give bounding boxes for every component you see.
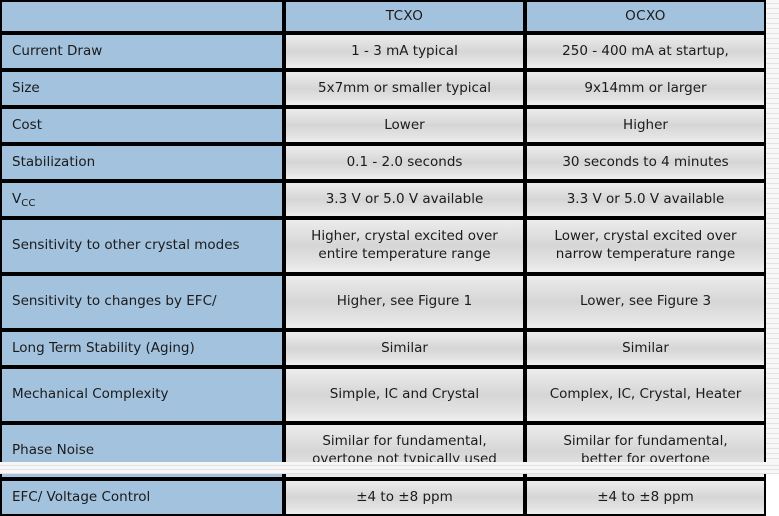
vcc-base: V	[12, 191, 21, 207]
cell-tcxo: Higher, see Figure 1	[284, 274, 525, 330]
cell-tcxo: Higher, crystal excited over entire temp…	[284, 218, 525, 274]
table-row-current-draw: Current Draw 1 - 3 mA typical 250 - 400 …	[0, 33, 766, 70]
header-row: TCXO OCXO	[0, 0, 766, 33]
comparison-table: TCXO OCXO Current Draw 1 - 3 mA typical …	[0, 0, 766, 516]
cell-tcxo: ±4 to ±8 ppm	[284, 479, 525, 516]
row-label: EFC/ Voltage Control	[0, 479, 284, 516]
page-background-texture-right	[766, 0, 779, 474]
table-row-vcc: VCC 3.3 V or 5.0 V available 3.3 V or 5.…	[0, 181, 766, 218]
table-row-mechanical-complexity: Mechanical Complexity Simple, IC and Cry…	[0, 367, 766, 423]
cell-ocxo: 30 seconds to 4 minutes	[525, 144, 766, 181]
header-cell-ocxo: OCXO	[525, 0, 766, 33]
table-row-cost: Cost Lower Higher	[0, 107, 766, 144]
row-label: Size	[0, 70, 284, 107]
cell-ocxo: Higher	[525, 107, 766, 144]
row-label: Cost	[0, 107, 284, 144]
cell-tcxo: 5x7mm or smaller typical	[284, 70, 525, 107]
header-cell-tcxo: TCXO	[284, 0, 525, 33]
cell-ocxo: Similar	[525, 330, 766, 367]
row-label-vcc: VCC	[0, 181, 284, 218]
row-label: Sensitivity to changes by EFC/	[0, 274, 284, 330]
table-row-stabilization: Stabilization 0.1 - 2.0 seconds 30 secon…	[0, 144, 766, 181]
cell-tcxo: 3.3 V or 5.0 V available	[284, 181, 525, 218]
header-cell-blank	[0, 0, 284, 33]
row-label: Mechanical Complexity	[0, 367, 284, 423]
row-label: Stabilization	[0, 144, 284, 181]
table-row-sensitivity-crystal-modes: Sensitivity to other crystal modes Highe…	[0, 218, 766, 274]
page-root: TCXO OCXO Current Draw 1 - 3 mA typical …	[0, 0, 779, 474]
cell-tcxo: 0.1 - 2.0 seconds	[284, 144, 525, 181]
table-row-size: Size 5x7mm or smaller typical 9x14mm or …	[0, 70, 766, 107]
cell-tcxo: Simple, IC and Crystal	[284, 367, 525, 423]
row-label: Sensitivity to other crystal modes	[0, 218, 284, 274]
table-row-long-term-stability: Long Term Stability (Aging) Similar Simi…	[0, 330, 766, 367]
page-background-texture-bottom	[0, 462, 779, 474]
vcc-subscript: CC	[21, 198, 35, 209]
table-body: Current Draw 1 - 3 mA typical 250 - 400 …	[0, 33, 766, 516]
cell-tcxo: Similar	[284, 330, 525, 367]
table-header: TCXO OCXO	[0, 0, 766, 33]
row-label: Long Term Stability (Aging)	[0, 330, 284, 367]
cell-ocxo: 250 - 400 mA at startup,	[525, 33, 766, 70]
cell-ocxo: Complex, IC, Crystal, Heater	[525, 367, 766, 423]
row-label: Current Draw	[0, 33, 284, 70]
cell-ocxo: ±4 to ±8 ppm	[525, 479, 766, 516]
cell-ocxo: Lower, crystal excited over narrow tempe…	[525, 218, 766, 274]
table-row-sensitivity-efc: Sensitivity to changes by EFC/ Higher, s…	[0, 274, 766, 330]
cell-tcxo: Lower	[284, 107, 525, 144]
cell-ocxo: 9x14mm or larger	[525, 70, 766, 107]
table-row-efc-voltage-control: EFC/ Voltage Control ±4 to ±8 ppm ±4 to …	[0, 479, 766, 516]
cell-tcxo: 1 - 3 mA typical	[284, 33, 525, 70]
cell-ocxo: 3.3 V or 5.0 V available	[525, 181, 766, 218]
cell-ocxo: Lower, see Figure 3	[525, 274, 766, 330]
